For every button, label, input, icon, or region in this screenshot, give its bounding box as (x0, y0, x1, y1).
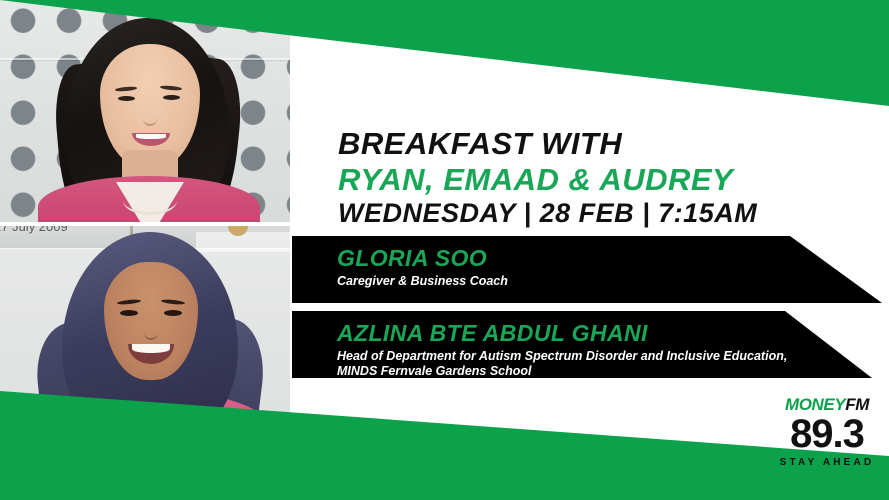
eye-right (163, 95, 180, 100)
nose (144, 326, 158, 340)
speaker-banner-1-content: GLORIA SOO Caregiver & Business Coach (337, 246, 822, 289)
headline-show-label: BREAKFAST WITH (338, 128, 858, 159)
speaker-1-name: GLORIA SOO (337, 246, 822, 271)
headline-datetime: WEDNESDAY | 28 FEB | 7:15AM (338, 200, 858, 227)
logo-frequency: 89.3 (772, 414, 882, 454)
eye-right (164, 310, 182, 316)
speaker-banner-2: AZLINA BTE ABDUL GHANI Head of Departmen… (292, 311, 882, 378)
background-panel (196, 232, 290, 252)
speaker-banner-2-content: AZLINA BTE ABDUL GHANI Head of Departmen… (337, 321, 822, 379)
speaker-2-name: AZLINA BTE ABDUL GHANI (337, 321, 822, 346)
headline-block: BREAKFAST WITH RYAN, EMAAD & AUDREY WEDN… (338, 128, 858, 227)
eye-left (120, 310, 138, 316)
speaker-2-role: Head of Department for Autism Spectrum D… (337, 349, 807, 379)
headline-hosts: RYAN, EMAAD & AUDREY (338, 164, 858, 195)
moneyfm-logo: MONEYFM 89.3 STAY AHEAD (772, 396, 882, 468)
nose (143, 112, 157, 126)
logo-wordmark: MONEYFM (772, 396, 882, 413)
promo-graphic: on 17 July 2009 BREAKFAST WITH (0, 0, 889, 500)
eye-left (118, 96, 135, 101)
speaker-banner-1: GLORIA SOO Caregiver & Business Coach (292, 236, 882, 303)
speaker-photo-gloria-soo (0, 0, 290, 222)
logo-tagline: STAY AHEAD (772, 458, 882, 468)
speaker-1-role: Caregiver & Business Coach (337, 274, 807, 289)
necklace (123, 186, 177, 215)
photo-background-caption-line2: 17 July 2009 (0, 226, 68, 234)
